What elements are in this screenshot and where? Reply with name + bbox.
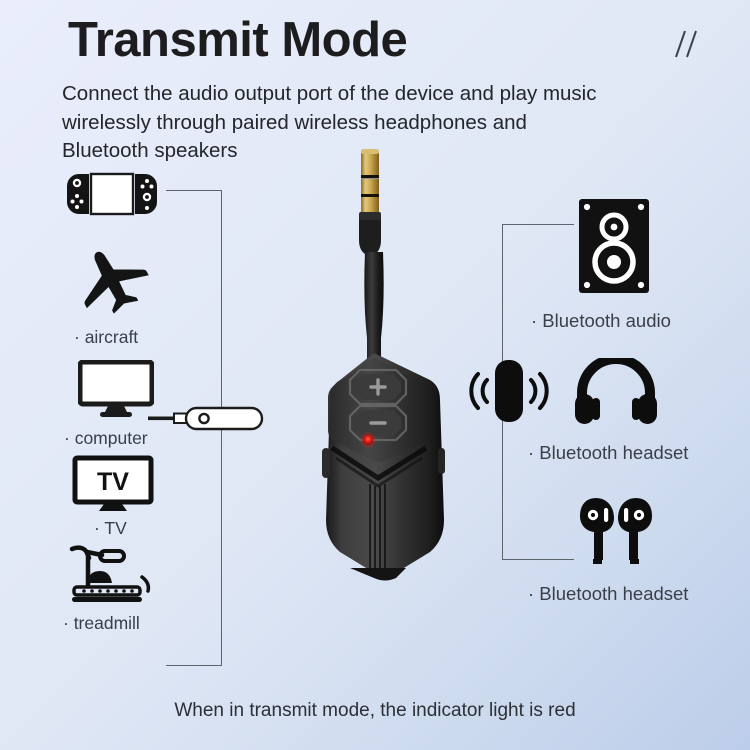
computer-monitor-icon	[78, 360, 154, 418]
page-title: Transmit Mode	[68, 14, 407, 68]
output-label-bluetooth-audio: · Bluetooth audio	[531, 310, 671, 332]
sidebar-item-computer	[78, 360, 154, 418]
sidebar-item-nintendo-switch	[57, 172, 167, 216]
bluetooth-transmitter-device	[290, 148, 480, 593]
sidebar-label-aircraft: · aircraft	[74, 327, 138, 348]
treadmill-icon	[64, 543, 156, 609]
sidebar-label-treadmill: · treadmill	[63, 613, 140, 634]
connector-line-left-bottom	[166, 665, 222, 666]
tv-icon: TV	[72, 455, 154, 515]
nintendo-switch-icon	[57, 172, 167, 216]
output-item-headphones	[573, 358, 659, 424]
sidebar-item-tv: TV	[72, 455, 154, 515]
description-line-1: Connect the audio output port of the dev…	[62, 80, 692, 109]
sidebar-item-aircraft	[74, 243, 156, 317]
footer-caption: When in transmit mode, the indicator lig…	[0, 700, 750, 722]
connector-line-earbuds	[502, 559, 574, 560]
side-button-left	[322, 448, 330, 478]
audio-jack-3.5mm-icon	[359, 149, 381, 254]
infographic-canvas: Transmit Mode Connect the audio output p…	[0, 0, 750, 750]
output-item-bluetooth-audio	[578, 198, 650, 294]
eject-pin-icon	[148, 404, 268, 434]
bluetooth-speaker-icon	[578, 198, 650, 294]
wireless-earbuds-icon	[566, 495, 666, 567]
sidebar-label-tv: · TV	[94, 518, 127, 539]
output-label-bluetooth-headset-2: · Bluetooth headset	[528, 583, 688, 605]
over-ear-headphones-icon	[573, 358, 659, 424]
side-button-right	[438, 448, 445, 474]
slash-decoration-icon	[662, 27, 702, 61]
output-label-bluetooth-headset-1: · Bluetooth headset	[528, 442, 688, 464]
sidebar-label-computer: · computer	[64, 428, 148, 449]
airplane-icon	[74, 243, 156, 317]
connector-line-switch	[166, 190, 222, 191]
connector-line-speaker	[502, 224, 574, 225]
output-item-earbuds	[566, 495, 666, 567]
tv-screen-text: TV	[97, 468, 129, 496]
description-line-2: wirelessly through paired wireless headp…	[62, 109, 692, 138]
sidebar-item-treadmill	[64, 543, 156, 609]
signal-emitting-device-icon	[468, 358, 550, 424]
led-indicator	[360, 432, 376, 448]
